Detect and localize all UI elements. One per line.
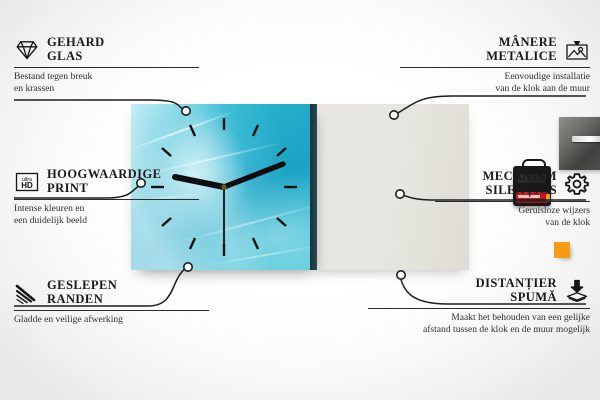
- gear-icon: [564, 171, 590, 197]
- divider: [400, 67, 590, 68]
- feature-title: MÂNERE METALICE: [486, 36, 557, 63]
- svg-text:HD: HD: [21, 181, 33, 190]
- feature-description: Eenvoudige installatie van de klok aan d…: [400, 71, 590, 94]
- feature-mecanism-silentios[interactable]: MECANISM SILENȚIOS Geruisloze wijzers va…: [435, 170, 590, 228]
- feature-geslepen-randen[interactable]: GESLEPEN RANDEN Gladde en veilige afwerk…: [14, 279, 209, 326]
- hands-center-cap: [221, 184, 226, 189]
- feature-description: Gladde en veilige afwerking: [14, 314, 209, 326]
- feature-description: Bestand tegen breuk en krassen: [14, 71, 199, 94]
- arrow-onto-layers-icon: [564, 278, 590, 304]
- diamond-icon: [14, 37, 40, 63]
- feature-header: DISTANȚIER SPUMĂ: [368, 277, 590, 304]
- feature-header: MECANISM SILENȚIOS: [435, 170, 590, 197]
- beveled-edges-icon: [14, 280, 40, 306]
- feature-title: HOOGWAARDIGE PRINT: [47, 168, 161, 195]
- feature-header: ultra HD HOOGWAARDIGE PRINT: [14, 168, 199, 195]
- minute-hand: [224, 164, 283, 187]
- feature-title: MECANISM SILENȚIOS: [483, 170, 557, 197]
- divider: [14, 199, 199, 200]
- feature-description: Maakt het behouden van een gelijke afsta…: [368, 312, 590, 335]
- feature-header: MÂNERE METALICE: [400, 36, 590, 63]
- feature-hoogwaardige-print[interactable]: ultra HD HOOGWAARDIGE PRINT Intense kleu…: [14, 168, 199, 226]
- ultra-hd-icon: ultra HD: [14, 169, 40, 195]
- feature-distantier-spuma[interactable]: DISTANȚIER SPUMĂ Maakt het behouden van …: [368, 277, 590, 335]
- feature-header: GESLEPEN RANDEN: [14, 279, 209, 306]
- divider: [14, 67, 199, 68]
- feature-title: GESLEPEN RANDEN: [47, 279, 117, 306]
- glass-edge: [310, 104, 317, 270]
- feature-header: GEHARD GLAS: [14, 36, 199, 63]
- infographic-canvas: GEHARD GLAS Bestand tegen breuk en krass…: [0, 0, 600, 400]
- divider: [14, 310, 209, 311]
- divider: [368, 308, 590, 309]
- framed-picture-hanging-icon: [564, 37, 590, 63]
- hanger-slot: [572, 136, 600, 142]
- metal-hanger: [559, 117, 600, 170]
- feature-title: DISTANȚIER SPUMĂ: [476, 277, 557, 304]
- feature-gehard-glas[interactable]: GEHARD GLAS Bestand tegen breuk en krass…: [14, 36, 199, 94]
- feature-manere-metalice[interactable]: MÂNERE METALICE Eenvoudige installatie v…: [400, 36, 590, 94]
- feature-title: GEHARD GLAS: [47, 36, 105, 63]
- divider: [435, 201, 590, 202]
- feature-description: Intense kleuren en een duidelijk beeld: [14, 203, 199, 226]
- feature-description: Geruisloze wijzers van de klok: [435, 205, 590, 228]
- foam-spacer: [554, 242, 570, 258]
